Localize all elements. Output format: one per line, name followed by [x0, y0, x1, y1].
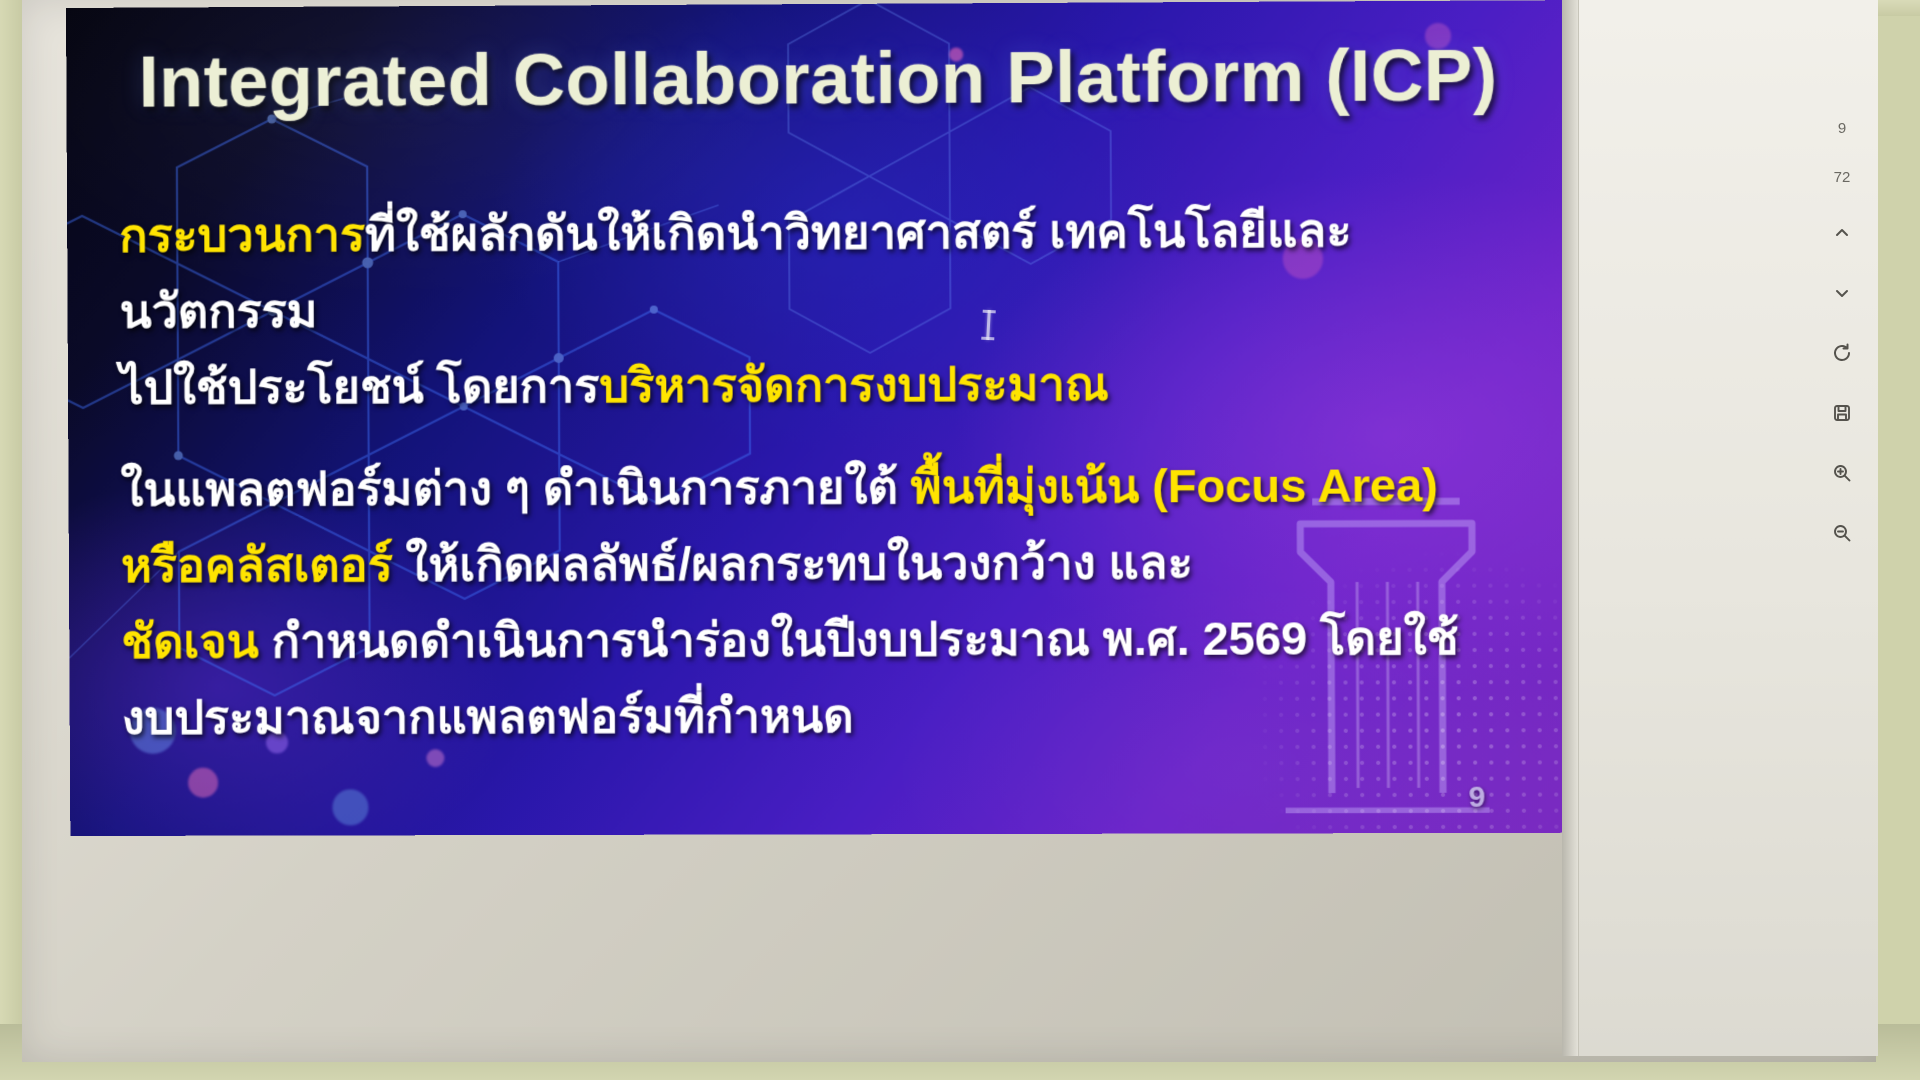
- page-indicator-current[interactable]: 9: [1838, 120, 1846, 139]
- slide-page-number: 9: [1469, 781, 1486, 815]
- zoom-in-icon[interactable]: [1827, 458, 1857, 488]
- refresh-icon[interactable]: [1827, 338, 1857, 368]
- paragraph-one-run-1: กระบวนการ: [119, 208, 365, 262]
- vertical-scrollbar[interactable]: [1562, 0, 1578, 1056]
- paragraph-two-run-1: ในแพลตฟอร์มต่าง ๆ ดำเนินการภายใต้: [120, 460, 910, 516]
- bokeh-dot: [332, 789, 368, 825]
- zoom-out-icon[interactable]: [1827, 518, 1857, 548]
- side-panel-rail: 9 72: [1814, 120, 1870, 548]
- save-icon[interactable]: [1827, 398, 1857, 428]
- paragraph-one-run-4: บริหารจัดการงบประมาณ: [599, 357, 1109, 412]
- photo-frame: Integrated Collaboration Platform (ICP) …: [0, 0, 1920, 1080]
- chevron-up-icon[interactable]: [1827, 218, 1857, 248]
- side-panel: 9 72: [1578, 0, 1878, 1056]
- slide-body: กระบวนการที่ใช้ผลักดันให้เกิดนำวิทยาศาสต…: [119, 191, 1546, 756]
- paragraph-two-run-6: กำหนดดำเนินการนำร่องในปีงบประมาณ พ.ศ. 25…: [258, 611, 1458, 668]
- paragraph-one-run-3: ไปใช้ประโยชน์ โดยการ: [120, 359, 600, 414]
- slide-title: Integrated Collaboration Platform (ICP): [66, 34, 1571, 124]
- monitor-bezel: Integrated Collaboration Platform (ICP) …: [22, 0, 1876, 1062]
- paragraph-one: กระบวนการที่ใช้ผลักดันให้เกิดนำวิทยาศาสต…: [119, 191, 1544, 426]
- paragraph-two-run-4: ให้เกิดผลลัพธ์/ผลกระทบในวงกว้าง และ: [393, 535, 1193, 591]
- zoom-percent-label[interactable]: 72: [1834, 169, 1851, 188]
- paragraph-two: ในแพลตฟอร์มต่าง ๆ ดำเนินการภายใต้ พื้นที…: [120, 447, 1546, 756]
- presentation-slide[interactable]: Integrated Collaboration Platform (ICP) …: [66, 0, 1575, 836]
- paragraph-two-run-5: ชัดเจน: [121, 614, 259, 667]
- chevron-down-icon[interactable]: [1827, 278, 1857, 308]
- bokeh-dot: [188, 768, 218, 798]
- paragraph-two-run-3: หรือคลัสเตอร์: [121, 538, 393, 592]
- paragraph-two-run-7: งบประมาณจากแพลตฟอร์มที่กำหนด: [122, 689, 854, 744]
- paragraph-two-run-2: พื้นที่มุ่งเน้น (Focus Area): [911, 458, 1438, 513]
